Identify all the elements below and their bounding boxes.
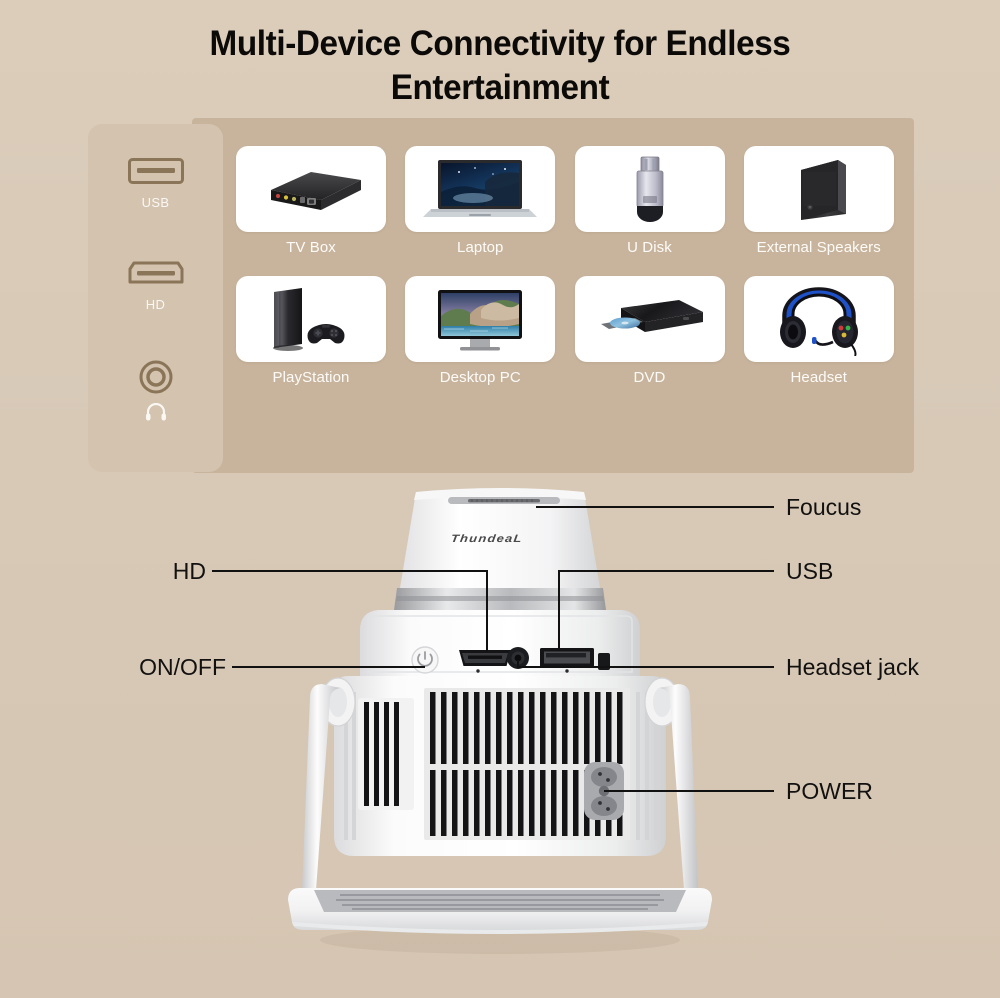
device-card-image-wrap bbox=[575, 276, 725, 362]
leader-line-headset-jack bbox=[517, 666, 774, 668]
leader-line-power bbox=[604, 790, 774, 792]
device-card-desktop-pc[interactable]: Desktop PC bbox=[405, 276, 565, 386]
headphone-icon bbox=[88, 403, 223, 424]
device-card-image-wrap bbox=[405, 146, 555, 232]
device-card-laptop[interactable]: Laptop bbox=[405, 146, 565, 256]
usb-flash-drive-image bbox=[610, 152, 690, 226]
leader-line-focus bbox=[536, 506, 774, 508]
device-card-image-wrap bbox=[575, 146, 725, 232]
laptop-image bbox=[417, 152, 543, 226]
connectivity-section: USB HD bbox=[0, 118, 1000, 478]
device-card-image-wrap bbox=[744, 146, 894, 232]
callout-focus: Foucus bbox=[786, 494, 861, 521]
playstation-console-image bbox=[250, 282, 372, 356]
device-card-label: External Speakers bbox=[744, 239, 894, 256]
device-card-playstation[interactable]: PlayStation bbox=[236, 276, 396, 386]
device-card-image-wrap bbox=[236, 276, 386, 362]
title-line-2: Entertainment bbox=[111, 66, 890, 110]
device-card-label: Headset bbox=[744, 369, 894, 386]
gaming-headset-image bbox=[771, 282, 867, 356]
device-card-headset[interactable]: Headset bbox=[744, 276, 904, 386]
hdmi-port-icon bbox=[88, 252, 223, 294]
leader-line-hd-horizontal bbox=[212, 570, 488, 572]
ports-sidebar: USB HD bbox=[88, 124, 223, 472]
device-card-label: Desktop PC bbox=[405, 369, 555, 386]
device-card-label: U Disk bbox=[575, 239, 725, 256]
desktop-monitor-image bbox=[426, 282, 534, 356]
usb-port-icon bbox=[88, 150, 223, 192]
callout-hd: HD bbox=[58, 558, 206, 585]
tv-box-image bbox=[249, 152, 373, 226]
device-card-image-wrap bbox=[236, 146, 386, 232]
device-card-label: DVD bbox=[575, 369, 725, 386]
device-card-image-wrap bbox=[744, 276, 894, 362]
projector-diagram: ThundeaL Foucus USB Headset jack POWER H… bbox=[0, 470, 1000, 998]
callout-onoff: ON/OFF bbox=[58, 654, 226, 681]
speaker-image bbox=[776, 152, 862, 226]
sidebar-port-audio bbox=[88, 356, 223, 424]
device-card-label: PlayStation bbox=[236, 369, 386, 386]
callout-usb: USB bbox=[786, 558, 833, 585]
callout-headset-jack: Headset jack bbox=[786, 654, 919, 681]
leader-line-hd-vertical bbox=[486, 570, 488, 652]
device-card-grid: TV Box bbox=[236, 146, 908, 386]
title-line-1: Multi-Device Connectivity for Endless bbox=[111, 22, 890, 66]
leader-line-usb-vertical bbox=[558, 570, 560, 650]
page-title: Multi-Device Connectivity for Endless En… bbox=[0, 22, 1000, 110]
leader-line-onoff bbox=[232, 666, 425, 668]
projector-illustration bbox=[0, 470, 1000, 998]
dvd-player-image bbox=[587, 282, 713, 356]
device-card-image-wrap bbox=[405, 276, 555, 362]
audio-jack-icon bbox=[88, 356, 223, 398]
device-card-external-speakers[interactable]: External Speakers bbox=[744, 146, 904, 256]
device-card-label: Laptop bbox=[405, 239, 555, 256]
device-card-u-disk[interactable]: U Disk bbox=[575, 146, 735, 256]
device-card-label: TV Box bbox=[236, 239, 386, 256]
infographic-page: Multi-Device Connectivity for Endless En… bbox=[0, 0, 1000, 998]
sidebar-port-usb: USB bbox=[88, 150, 223, 210]
brand-wordmark: ThundeaL bbox=[450, 532, 523, 544]
sidebar-port-hdmi-label: HD bbox=[88, 297, 223, 312]
leader-line-usb-horizontal bbox=[558, 570, 774, 572]
sidebar-port-usb-label: USB bbox=[88, 195, 223, 210]
device-card-tv-box[interactable]: TV Box bbox=[236, 146, 396, 256]
device-card-dvd[interactable]: DVD bbox=[575, 276, 735, 386]
sidebar-port-hdmi: HD bbox=[88, 252, 223, 312]
callout-power: POWER bbox=[786, 778, 873, 805]
